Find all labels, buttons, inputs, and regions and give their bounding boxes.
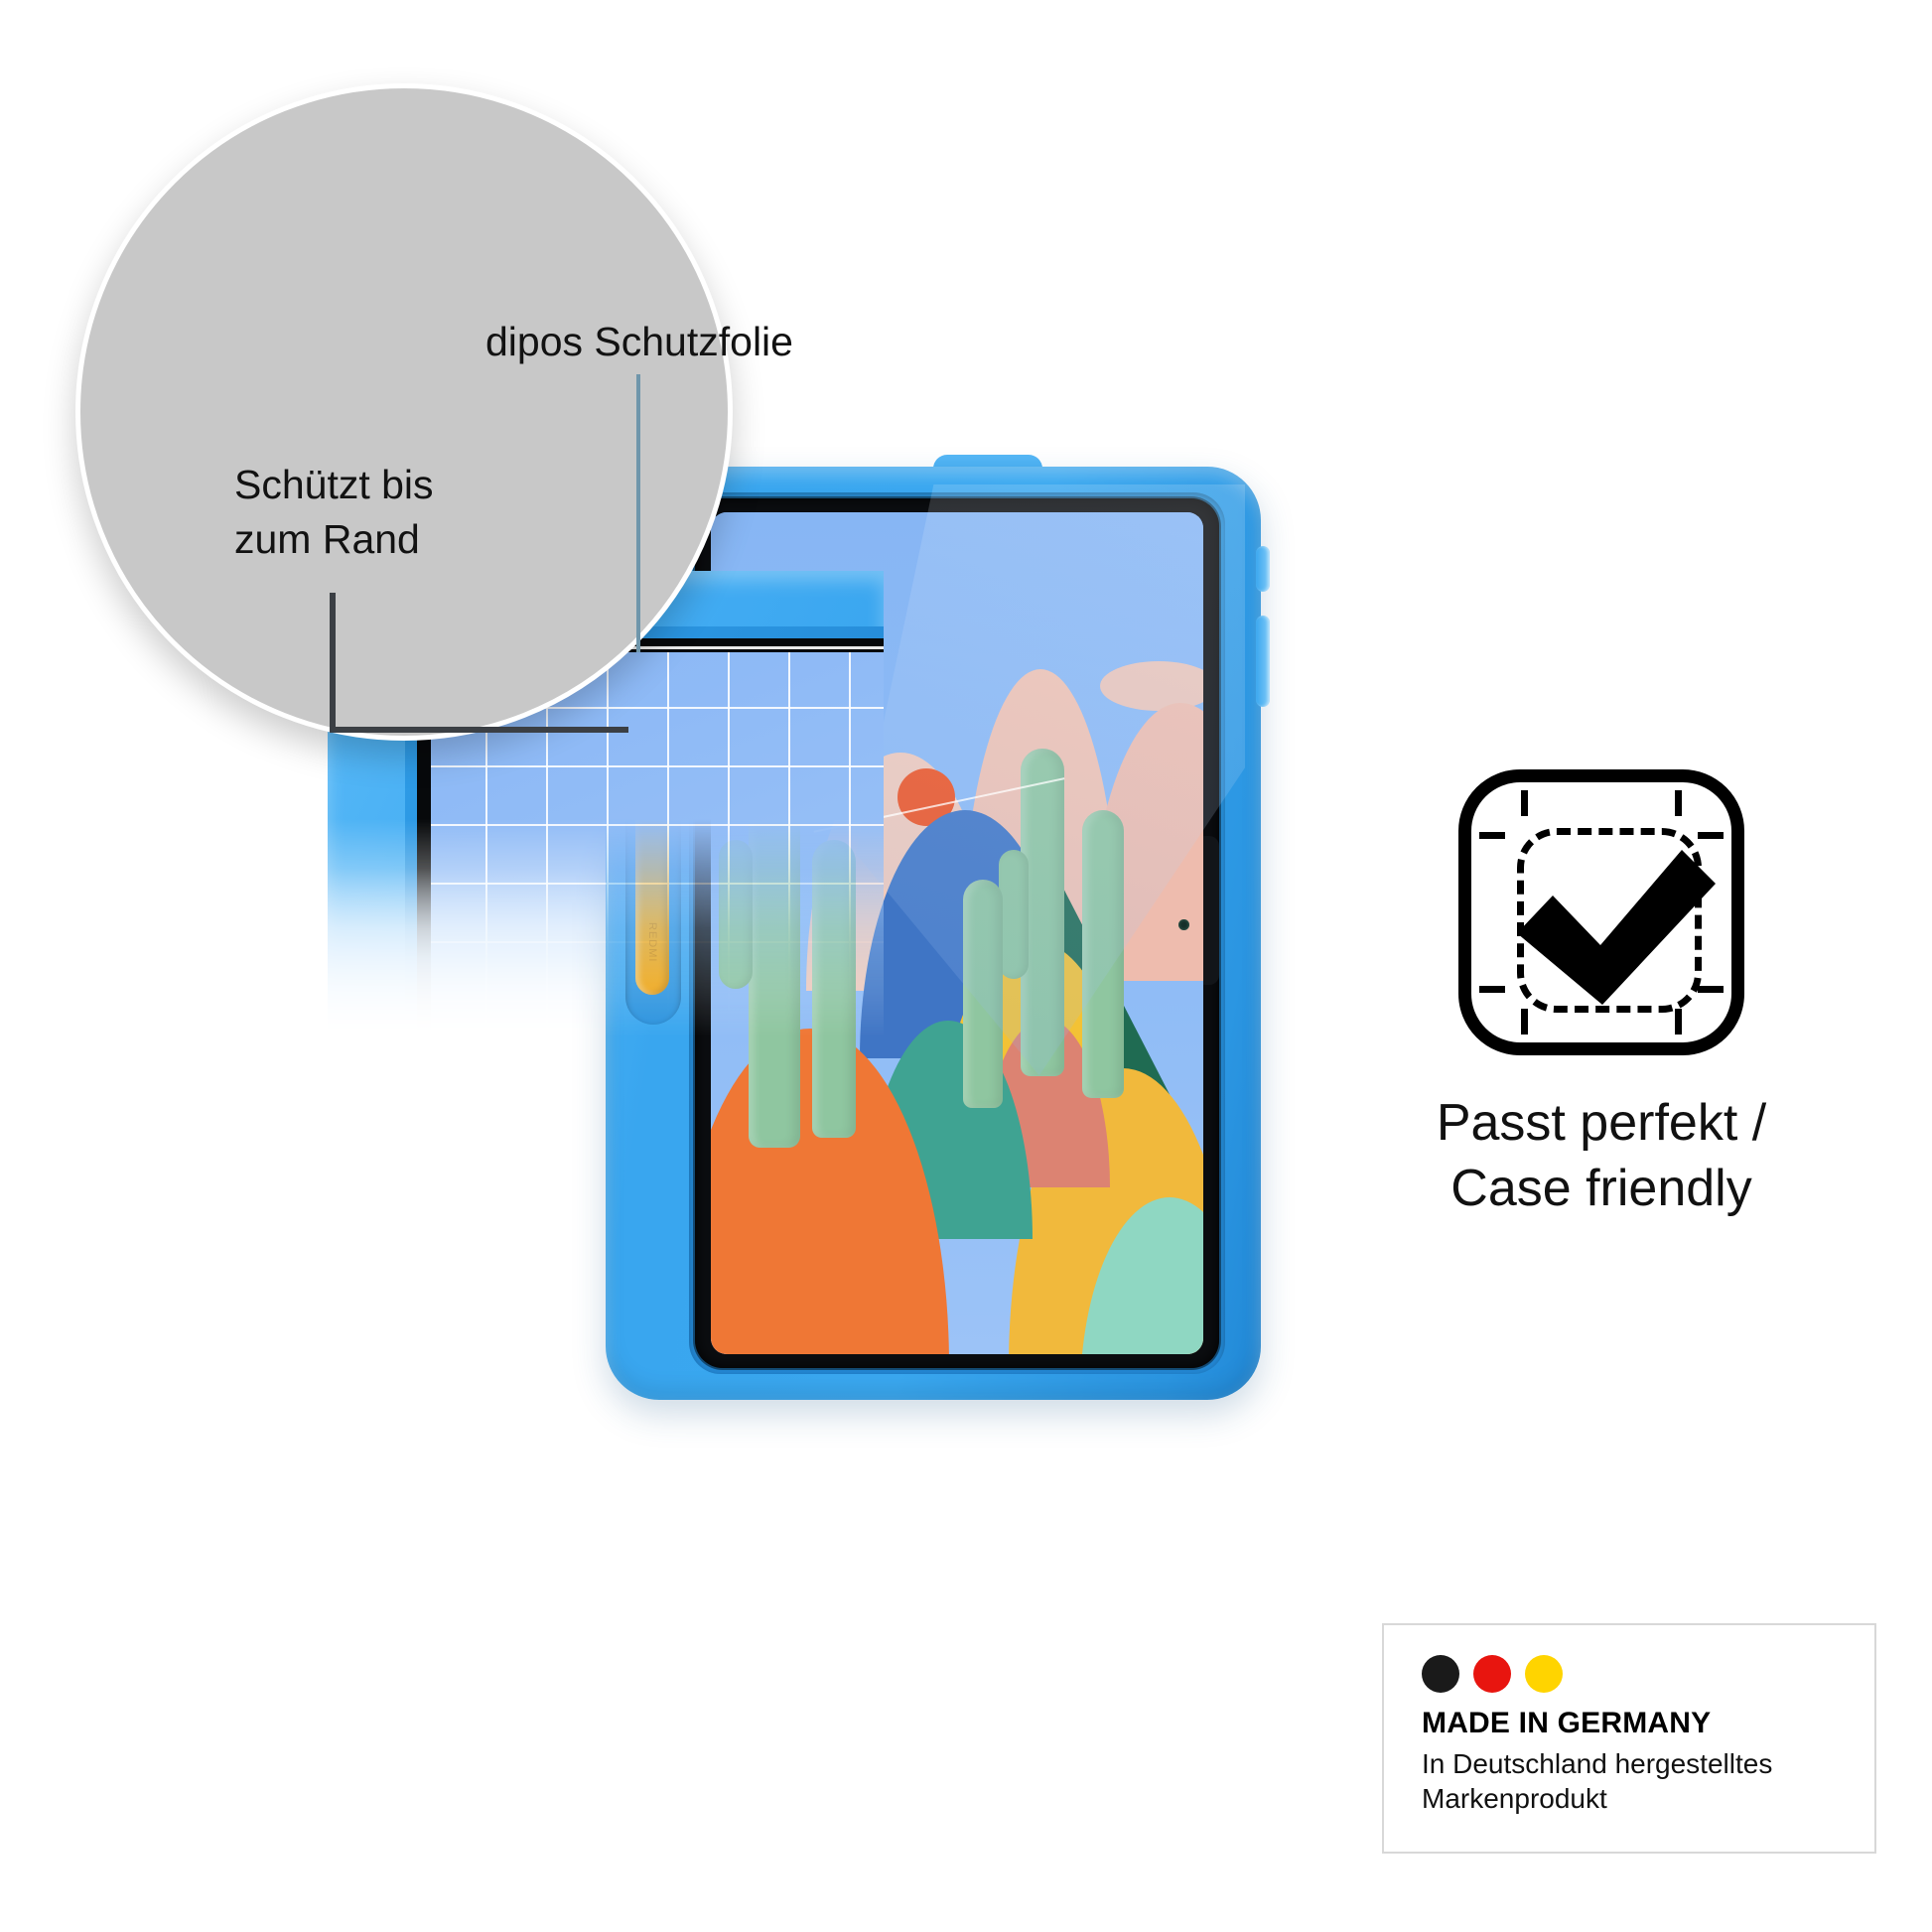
flag-dot-gold	[1525, 1655, 1563, 1693]
made-in-germany-title: MADE IN GERMANY	[1422, 1707, 1874, 1740]
made-in-germany-badge: MADE IN GERMANY In Deutschland hergestel…	[1382, 1623, 1876, 1854]
magnified-fade-glow	[328, 869, 884, 1047]
product-feature-banner: REDMI dipos Schutzfolie Schützt bis zum …	[0, 0, 1932, 1932]
flag-dot-black	[1422, 1655, 1459, 1693]
case-friendly-caption: Passt perfekt / Case friendly	[1368, 1091, 1835, 1221]
callout-label-edge-line2: zum Rand	[234, 516, 420, 562]
wallpaper-cactus-arm	[999, 850, 1029, 979]
case-friendly-badge: Passt perfekt / Case friendly	[1368, 769, 1835, 1221]
german-flag-dots	[1422, 1655, 1874, 1693]
leader-line-product	[636, 374, 640, 652]
fits-perfectly-check-icon	[1458, 769, 1744, 1055]
leader-bracket-edge	[330, 593, 628, 733]
case-button-volume	[1256, 616, 1270, 707]
made-in-germany-subtitle: In Deutschland hergestelltes Markenprodu…	[1422, 1746, 1874, 1817]
flag-dot-red	[1473, 1655, 1511, 1693]
callout-label-edge-line1: Schützt bis	[234, 462, 434, 507]
case-button-power	[1256, 546, 1270, 592]
case-friendly-caption-line1: Passt perfekt /	[1437, 1094, 1766, 1152]
made-in-germany-subtitle-line2: Markenprodukt	[1422, 1783, 1607, 1814]
wallpaper-cactus	[963, 880, 1003, 1108]
case-friendly-caption-line2: Case friendly	[1450, 1160, 1751, 1217]
magnifier-callout-circle: dipos Schutzfolie Schützt bis zum Rand	[75, 83, 733, 741]
front-camera-icon	[1178, 919, 1189, 930]
checkmark-icon	[1505, 830, 1724, 1019]
made-in-germany-subtitle-line1: In Deutschland hergestelltes	[1422, 1748, 1772, 1779]
wallpaper-cactus	[1082, 810, 1124, 1098]
callout-label-product: dipos Schutzfolie	[485, 315, 793, 369]
callout-label-edge: Schützt bis zum Rand	[234, 458, 434, 568]
